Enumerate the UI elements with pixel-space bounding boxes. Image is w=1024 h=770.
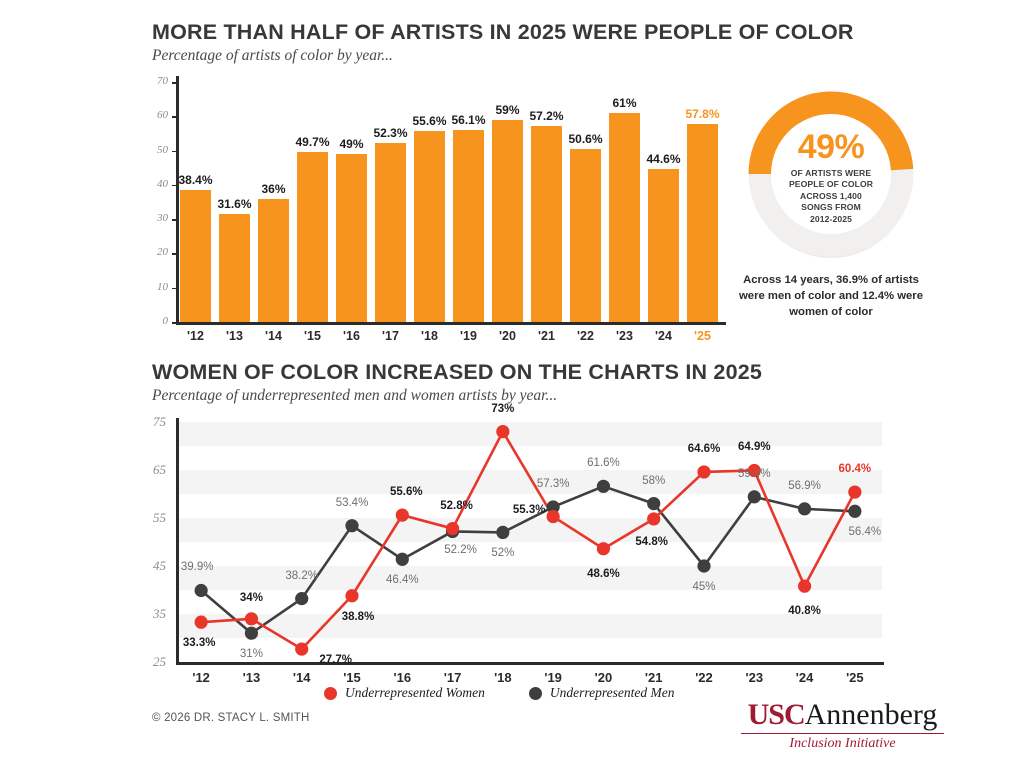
legend-item[interactable]: Underrepresented Men — [529, 685, 675, 701]
line-chart-value-label: 34% — [221, 592, 281, 604]
logo-usc-text: USC — [748, 698, 805, 731]
line-chart-data-point[interactable] — [798, 502, 811, 515]
line-chart-y-tick: 45 — [140, 558, 166, 574]
line-chart-value-label: 38.2% — [272, 570, 332, 582]
line-chart-value-label: 27.7% — [306, 654, 366, 666]
line-chart-value-label: 33.3% — [169, 637, 229, 649]
line-chart-value-label: 40.8% — [775, 605, 835, 617]
legend-item[interactable]: Underrepresented Women — [324, 685, 485, 701]
infographic-page: MORE THAN HALF OF ARTISTS IN 2025 WERE P… — [0, 0, 1024, 770]
line-chart-data-point[interactable] — [295, 592, 308, 605]
line-chart-value-label: 39.9% — [167, 561, 227, 573]
line-chart-value-label: 45% — [674, 581, 734, 593]
legend-item-label: Underrepresented Women — [345, 685, 485, 701]
line-chart-value-label: 56.9% — [775, 480, 835, 492]
line-chart-value-label: 56.4% — [835, 526, 895, 538]
line-chart-data-point[interactable] — [848, 505, 861, 518]
line-chart-value-label: 48.6% — [573, 568, 633, 580]
line-chart-x-tick: '16 — [378, 670, 426, 685]
line-chart-band — [178, 614, 882, 638]
line-chart-value-label: 58% — [624, 475, 684, 487]
line-chart-value-label: 38.8% — [328, 611, 388, 623]
line-chart-band — [178, 518, 882, 542]
line-chart-x-tick: '21 — [630, 670, 678, 685]
chart-legend: Underrepresented WomenUnderrepresented M… — [324, 685, 674, 701]
logo-annenberg-text: Annenberg — [805, 698, 938, 731]
line-chart-x-tick: '12 — [177, 670, 225, 685]
line-chart-value-label: 31% — [221, 648, 281, 660]
line-chart-data-point[interactable] — [345, 589, 358, 602]
line-chart-x-tick: '22 — [680, 670, 728, 685]
line-chart-x-tick: '18 — [479, 670, 527, 685]
line-chart-value-label: 54.8% — [622, 536, 682, 548]
circle-marker-icon — [529, 687, 542, 700]
circle-marker-icon — [324, 687, 337, 700]
line-chart-x-tick: '23 — [730, 670, 778, 685]
line-chart-value-label: 60.4% — [825, 463, 885, 475]
line-chart-y-axis — [176, 418, 179, 664]
logo-divider — [741, 733, 944, 734]
line-chart-x-tick: '13 — [227, 670, 275, 685]
line-chart-x-tick: '15 — [328, 670, 376, 685]
line-chart-value-label: 59.4% — [724, 468, 784, 480]
line-chart-value-label: 73% — [473, 403, 533, 415]
line-chart-value-label: 46.4% — [372, 574, 432, 586]
line-chart-x-tick: '14 — [278, 670, 326, 685]
line-chart-x-tick: '20 — [579, 670, 627, 685]
line-chart-y-tick: 25 — [140, 654, 166, 670]
usc-annenberg-logo: USCAnnenberg Inclusion Initiative — [735, 700, 950, 752]
line-chart-data-point[interactable] — [647, 497, 660, 510]
line-chart-value-label: 55.6% — [376, 486, 436, 498]
line-chart-data-point[interactable] — [396, 553, 409, 566]
line-chart-data-point[interactable] — [597, 542, 610, 555]
legend-item-label: Underrepresented Men — [550, 685, 675, 701]
line-chart-y-tick: 35 — [140, 606, 166, 622]
line-chart-y-tick: 65 — [140, 462, 166, 478]
line-chart-value-label: 52% — [473, 547, 533, 559]
underrepresented-artists-line-chart: 253545556575'12'13'14'15'16'17'18'19'20'… — [0, 0, 1024, 770]
line-chart-x-tick: '17 — [429, 670, 477, 685]
line-chart-y-tick: 55 — [140, 510, 166, 526]
line-chart-value-label: 61.6% — [573, 457, 633, 469]
line-chart-value-label: 64.9% — [724, 441, 784, 453]
line-chart-value-label: 57.3% — [523, 478, 583, 490]
copyright-text: © 2026 DR. STACY L. SMITH — [152, 712, 309, 724]
line-chart-value-label: 53.4% — [322, 497, 382, 509]
line-chart-value-label: 55.3% — [499, 504, 559, 516]
line-chart-x-tick: '24 — [781, 670, 829, 685]
logo-tagline: Inclusion Initiative — [735, 736, 950, 752]
line-chart-x-tick: '19 — [529, 670, 577, 685]
line-chart-x-axis — [176, 662, 884, 665]
line-chart-value-label: 52.8% — [427, 500, 487, 512]
line-chart-x-tick: '25 — [831, 670, 879, 685]
line-chart-y-tick: 75 — [140, 414, 166, 430]
